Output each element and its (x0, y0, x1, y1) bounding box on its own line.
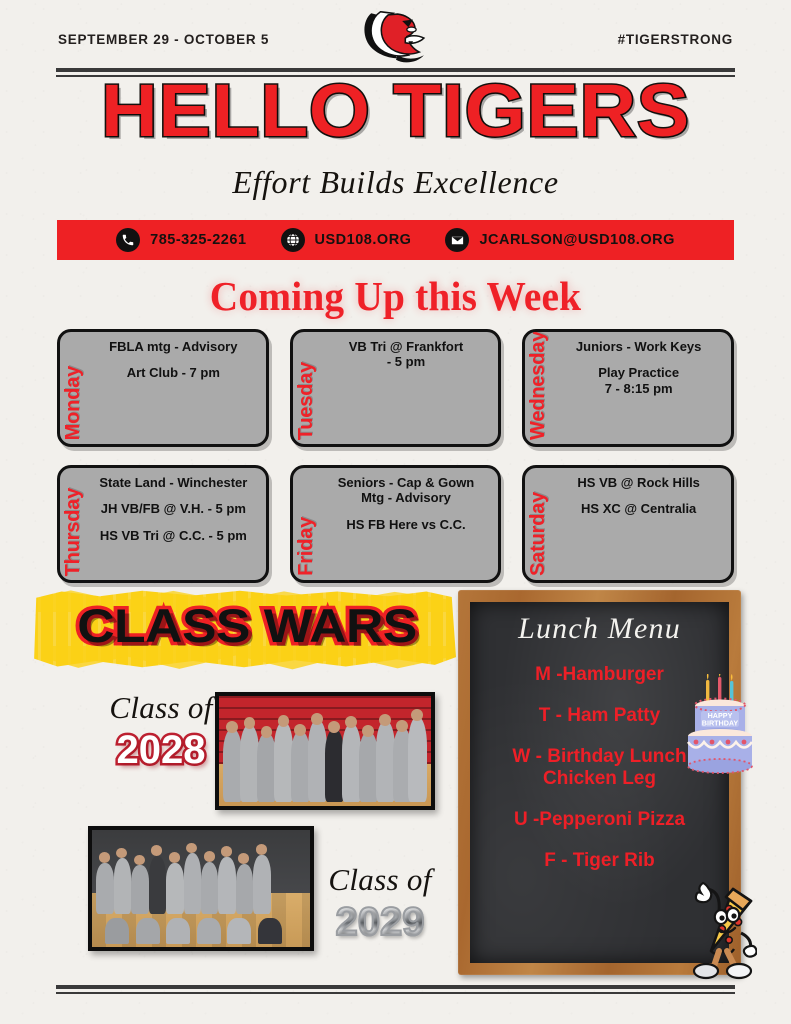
class-wars-banner: CLASS WARS (32, 588, 462, 672)
lunch-menu-board: Lunch Menu M -HamburgerT - Ham PattyW - … (458, 590, 741, 975)
menu-item-line: M -Hamburger (535, 664, 664, 685)
day-label: Saturday (528, 492, 548, 576)
contact-bar: 785-325-2261 USD108.ORG (57, 220, 734, 260)
day-box-thursday: ThursdayState Land - WinchesterJH VB/FB … (57, 465, 269, 583)
header-bar: SEPTEMBER 29 - OCTOBER 5 #TIGERSTRONG (0, 0, 791, 68)
event-line: HS XC @ Centralia (551, 501, 726, 516)
event-line: State Land - Winchester (86, 475, 261, 490)
hashtag: #TIGERSTRONG (618, 32, 733, 47)
event-line: 7 - 8:15 pm (551, 381, 726, 396)
event-line: Play Practice (551, 365, 726, 380)
day-event: Art Club - 7 pm (86, 365, 261, 380)
day-event: Play Practice7 - 8:15 pm (551, 365, 726, 396)
day-label: Tuesday (296, 362, 316, 440)
class-of-label: Class of (86, 690, 236, 726)
day-events: Juniors - Work KeysPlay Practice7 - 8:15… (551, 339, 726, 396)
schedule-grid: MondayFBLA mtg - AdvisoryArt Club - 7 pm… (57, 329, 734, 583)
menu-item-line: T - Ham Patty (539, 705, 660, 726)
class-2028-caption: Class of 2028 (86, 690, 236, 770)
event-line: Seniors - Cap & Gown (319, 475, 494, 490)
lunch-menu-title: Lunch Menu (470, 612, 729, 646)
day-label: Friday (296, 517, 316, 576)
day-event: HS VB Tri @ C.C. - 5 pm (86, 528, 261, 543)
svg-text:BIRTHDAY: BIRTHDAY (702, 719, 739, 728)
class-wars-title: CLASS WARS (11, 602, 484, 649)
event-line: - 5 pm (319, 354, 494, 369)
date-range: SEPTEMBER 29 - OCTOBER 5 (58, 32, 269, 47)
tagline: Effort Builds Excellence (0, 164, 791, 201)
lunch-menu-item: F - Tiger Rib (474, 850, 725, 872)
divider-bottom (56, 985, 735, 994)
lunch-menu-item: U -Pepperoni Pizza (474, 809, 725, 831)
contact-website[interactable]: USD108.ORG (264, 228, 429, 252)
student-group (219, 696, 431, 806)
day-event: Juniors - Work Keys (551, 339, 726, 354)
day-events: VB Tri @ Frankfort- 5 pm (319, 339, 494, 370)
phone-icon (116, 228, 140, 252)
day-event: HS FB Here vs C.C. (319, 517, 494, 532)
contact-email[interactable]: JCARLSON@USD108.ORG (428, 228, 691, 252)
website-url: USD108.ORG (315, 232, 412, 248)
day-event: HS VB @ Rock Hills (551, 475, 726, 490)
day-label: Wednesday (528, 331, 548, 440)
pizza-mascot-icon (677, 877, 757, 981)
day-events: State Land - WinchesterJH VB/FB @ V.H. -… (86, 475, 261, 543)
event-line: Art Club - 7 pm (86, 365, 261, 380)
day-box-friday: FridaySeniors - Cap & GownMtg - Advisory… (290, 465, 502, 583)
class-2028-photo (215, 692, 435, 810)
day-box-wednesday: WednesdayJuniors - Work KeysPlay Practic… (522, 329, 734, 447)
menu-item-line: U -Pepperoni Pizza (514, 809, 685, 830)
page-title: HELLO TIGERS (0, 74, 791, 148)
day-box-saturday: SaturdayHS VB @ Rock HillsHS XC @ Centra… (522, 465, 734, 583)
flyer-page: SEPTEMBER 29 - OCTOBER 5 #TIGERSTRONG HE… (0, 0, 791, 1024)
event-line: HS FB Here vs C.C. (319, 517, 494, 532)
event-line: HS VB Tri @ C.C. - 5 pm (86, 528, 261, 543)
day-event: HS XC @ Centralia (551, 501, 726, 516)
event-line: HS VB @ Rock Hills (551, 475, 726, 490)
class-2029-caption: Class of 2029 (300, 862, 460, 942)
class-year: 2028 (86, 730, 236, 770)
email-address: JCARLSON@USD108.ORG (479, 232, 674, 248)
day-events: FBLA mtg - AdvisoryArt Club - 7 pm (86, 339, 261, 381)
event-line: VB Tri @ Frankfort (319, 339, 494, 354)
day-event: State Land - Winchester (86, 475, 261, 490)
tiger-head-logo (357, 4, 435, 66)
day-event: Seniors - Cap & GownMtg - Advisory (319, 475, 494, 506)
menu-item-line: F - Tiger Rib (544, 850, 654, 871)
day-events: Seniors - Cap & GownMtg - AdvisoryHS FB … (319, 475, 494, 532)
class-2029-photo (88, 826, 314, 951)
event-line: JH VB/FB @ V.H. - 5 pm (86, 501, 261, 516)
day-box-tuesday: TuesdayVB Tri @ Frankfort- 5 pm (290, 329, 502, 447)
student-group (92, 830, 310, 947)
event-line: Juniors - Work Keys (551, 339, 726, 354)
menu-item-line: W - Birthday Lunch (512, 746, 686, 767)
day-box-monday: MondayFBLA mtg - AdvisoryArt Club - 7 pm (57, 329, 269, 447)
phone-number: 785-325-2261 (150, 232, 246, 248)
day-event: JH VB/FB @ V.H. - 5 pm (86, 501, 261, 516)
schedule-heading: Coming Up this Week (16, 272, 775, 320)
birthday-cake-icon: HAPPY BIRTHDAY (675, 674, 761, 782)
chalkboard-surface: Lunch Menu M -HamburgerT - Ham PattyW - … (470, 602, 729, 963)
day-event: FBLA mtg - Advisory (86, 339, 261, 354)
envelope-icon (445, 228, 469, 252)
globe-icon (281, 228, 305, 252)
day-event: VB Tri @ Frankfort- 5 pm (319, 339, 494, 370)
day-label: Thursday (63, 488, 83, 576)
event-line: FBLA mtg - Advisory (86, 339, 261, 354)
event-line: Mtg - Advisory (319, 490, 494, 505)
day-events: HS VB @ Rock HillsHS XC @ Centralia (551, 475, 726, 517)
class-year: 2029 (300, 902, 460, 942)
day-label: Monday (63, 366, 83, 440)
contact-phone[interactable]: 785-325-2261 (99, 228, 263, 252)
class-of-label: Class of (300, 862, 460, 898)
